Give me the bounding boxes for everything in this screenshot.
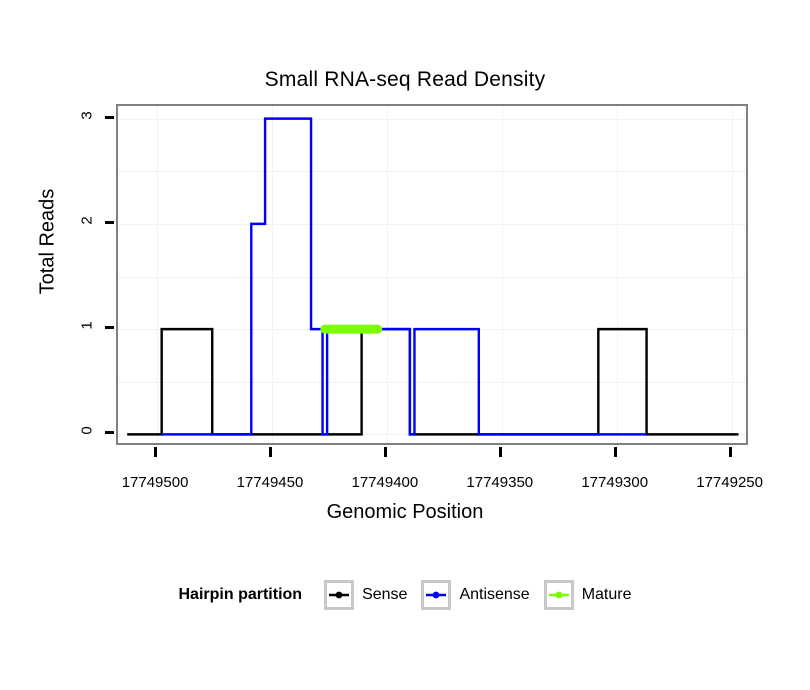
x-tick-label: 17749350	[440, 474, 560, 491]
x-tick-label: 17749300	[555, 474, 675, 491]
legend-key-icon	[324, 580, 354, 610]
x-tick-mark	[499, 447, 502, 457]
chart-page: Small RNA-seq Read Density Total Reads 0…	[0, 0, 810, 690]
y-tick-label: 0	[79, 416, 96, 446]
y-axis-title: Total Reads	[37, 142, 60, 342]
legend-label: Sense	[362, 586, 407, 604]
x-tick-mark	[614, 447, 617, 457]
x-tick-label: 17749250	[670, 474, 790, 491]
x-tick-label: 17749450	[210, 474, 330, 491]
legend-items: SenseAntisenseMature	[324, 580, 631, 610]
legend-label: Mature	[582, 586, 632, 604]
x-tick-label: 17749400	[325, 474, 445, 491]
x-tick-mark	[729, 447, 732, 457]
legend: Hairpin partition SenseAntisenseMature	[0, 580, 810, 610]
legend-label: Antisense	[459, 586, 529, 604]
chart-title: Small RNA-seq Read Density	[0, 68, 810, 92]
legend-item-sense[interactable]: Sense	[324, 580, 407, 610]
x-tick-mark	[154, 447, 157, 457]
legend-item-antisense[interactable]: Antisense	[421, 580, 529, 610]
legend-key-icon	[544, 580, 574, 610]
y-tick-mark	[105, 116, 114, 119]
plot-panel	[116, 104, 748, 445]
series-line-sense	[127, 329, 738, 434]
y-tick-label: 3	[79, 100, 96, 130]
x-axis-title: Genomic Position	[0, 501, 810, 524]
legend-key-icon	[421, 580, 451, 610]
x-tick-mark	[384, 447, 387, 457]
data-series-layer	[118, 106, 748, 445]
series-line-antisense	[162, 119, 647, 435]
y-tick-label: 2	[79, 205, 96, 235]
legend-title: Hairpin partition	[179, 586, 303, 604]
x-tick-label: 17749500	[95, 474, 215, 491]
y-tick-label: 1	[79, 311, 96, 341]
legend-item-mature[interactable]: Mature	[544, 580, 632, 610]
y-tick-mark	[105, 221, 114, 224]
y-tick-mark	[105, 431, 114, 434]
y-tick-mark	[105, 326, 114, 329]
x-tick-mark	[269, 447, 272, 457]
